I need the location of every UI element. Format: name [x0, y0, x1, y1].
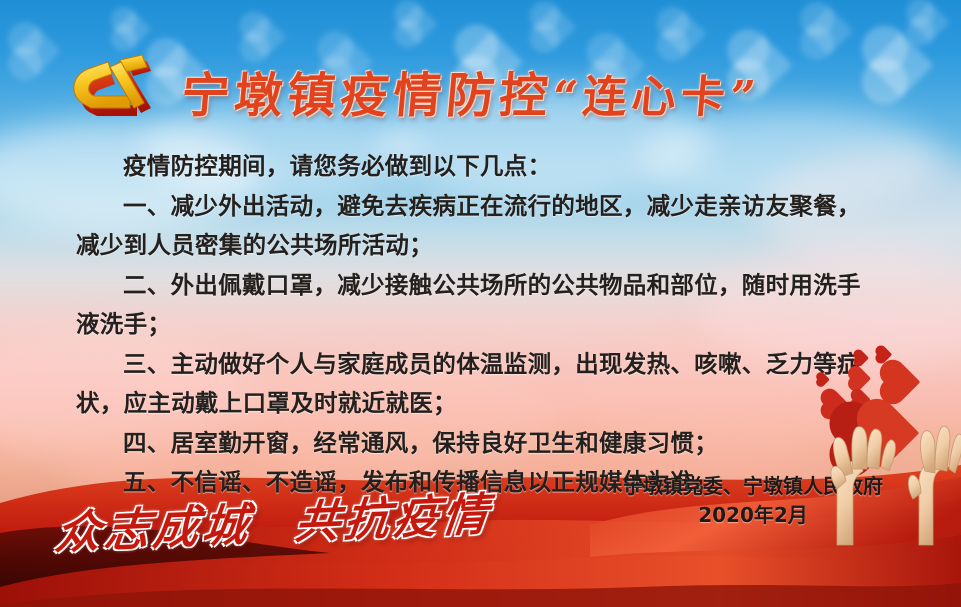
poster-body: 疫情防控期间，请您务必做到以下几点： 一、减少外出活动，避免去疾病正在流行的地区… [76, 148, 906, 504]
slogan-right: 共抗疫情 [292, 477, 495, 551]
poster-title-quoted: “连心卡” [550, 72, 762, 123]
sky-heart-icon [910, 2, 950, 42]
item-2-line-1: 二、外出佩戴口罩，减少接触公共场所的公共物品和部位，随时用洗手 [76, 267, 906, 305]
epidemic-prevention-poster: 宁墩镇疫情防控“连心卡” 疫情防控期间，请您务必做到以下几点： 一、减少外出活动… [0, 0, 961, 607]
cpc-party-emblem-icon [66, 53, 168, 129]
slogan-left: 众志成城 [52, 488, 255, 562]
item-3-line-1: 三、主动做好个人与家庭成员的体温监测，出现发热、咳嗽、乏力等症 [76, 346, 906, 384]
item-2-line-2: 液洗手； [76, 306, 906, 344]
poster-title-row: 宁墩镇疫情防控“连心卡” [0, 46, 961, 136]
sky-heart-icon [534, 6, 576, 48]
signature-date: 2020年2月 [623, 501, 883, 530]
poster-title-main: 宁墩镇疫情防控 [179, 68, 555, 124]
poster-title: 宁墩镇疫情防控“连心卡” [179, 56, 764, 126]
sky-heart-icon [115, 11, 152, 48]
item-1-line-2: 减少到人员密集的公共场所活动； [76, 227, 906, 265]
item-3-line-2: 状，应主动戴上口罩及时就近就医； [76, 385, 906, 423]
item-1-line-1: 一、减少外出活动，避免去疾病正在流行的地区，减少走亲访友聚餐， [76, 188, 906, 226]
party-emblem-svg [66, 53, 168, 129]
item-4-line-1: 四、居室勤开窗，经常通风，保持良好卫生和健康习惯； [76, 425, 906, 463]
body-intro: 疫情防控期间，请您务必做到以下几点： [76, 148, 906, 186]
signature-block: 宁墩镇党委、宁墩镇人民政府 2020年2月 [623, 472, 883, 530]
signature-organization: 宁墩镇党委、宁墩镇人民政府 [623, 472, 883, 501]
sky-heart-icon [398, 4, 438, 44]
